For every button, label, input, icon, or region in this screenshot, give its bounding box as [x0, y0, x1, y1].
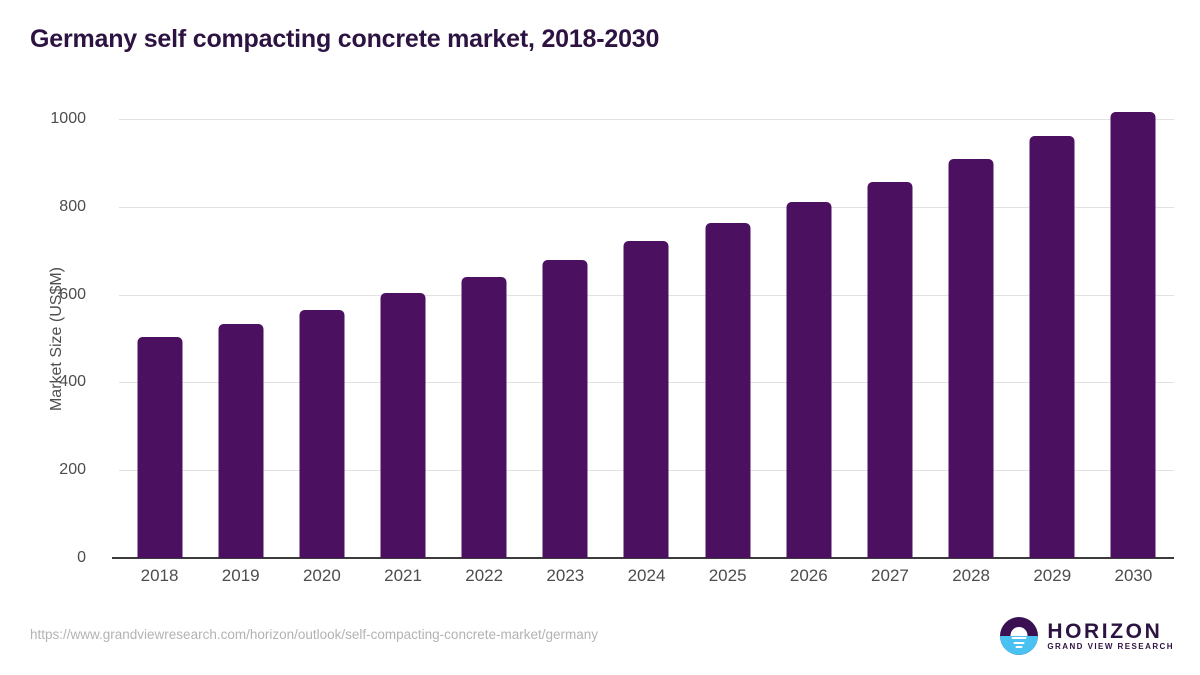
- y-tick-label-200: 200: [0, 461, 86, 479]
- logo-wordmark: HORIZON: [1047, 621, 1174, 643]
- bar-2025[interactable]: [705, 223, 750, 558]
- y-tick-label-400: 400: [0, 373, 86, 391]
- bar-slot: [200, 119, 281, 558]
- x-tick-label-2021: 2021: [384, 566, 422, 586]
- chart-card: Germany self compacting concrete market,…: [0, 0, 1200, 675]
- logo-ray-3: [1016, 646, 1023, 648]
- bar-2019[interactable]: [218, 324, 263, 558]
- bar-slot: [119, 119, 200, 558]
- logo-text: HORIZON GRAND VIEW RESEARCH: [1047, 621, 1174, 652]
- bar-slot: [849, 119, 930, 558]
- bar-2028[interactable]: [949, 159, 994, 558]
- bar-2027[interactable]: [867, 182, 912, 558]
- page-title: Germany self compacting concrete market,…: [30, 25, 659, 54]
- logo-tagline: GRAND VIEW RESEARCH: [1047, 643, 1174, 652]
- x-tick-label-2023: 2023: [546, 566, 584, 586]
- y-tick-label-1000: 1000: [0, 110, 86, 128]
- x-tick-label-2028: 2028: [952, 566, 990, 586]
- bar-2020[interactable]: [299, 310, 344, 558]
- bar-2022[interactable]: [462, 277, 507, 558]
- logo-ray-1: [1012, 637, 1027, 639]
- horizon-logo[interactable]: HORIZON GRAND VIEW RESEARCH: [1000, 616, 1174, 656]
- logo-sun-shape: [1011, 627, 1028, 636]
- x-tick-label-2020: 2020: [303, 566, 341, 586]
- bar-slot: [687, 119, 768, 558]
- x-tick-label-2026: 2026: [790, 566, 828, 586]
- bar-2018[interactable]: [137, 337, 182, 558]
- x-axis-ticks: 2018201920202021202220232024202520262027…: [119, 566, 1174, 596]
- bar-slot: [606, 119, 687, 558]
- horizon-logo-icon: [1000, 617, 1038, 655]
- x-tick-label-2027: 2027: [871, 566, 909, 586]
- bar-slot: [525, 119, 606, 558]
- bar-slot: [1012, 119, 1093, 558]
- x-tick-label-2024: 2024: [628, 566, 666, 586]
- bar-2024[interactable]: [624, 241, 669, 558]
- x-tick-label-2029: 2029: [1033, 566, 1071, 586]
- x-tick-label-2019: 2019: [222, 566, 260, 586]
- bar-2026[interactable]: [786, 202, 831, 558]
- bar-slot: [444, 119, 525, 558]
- bar-slot: [281, 119, 362, 558]
- bar-slot: [362, 119, 443, 558]
- y-tick-label-0: 0: [0, 549, 86, 567]
- bar-slot: [1093, 119, 1174, 558]
- x-tick-label-2025: 2025: [709, 566, 747, 586]
- source-url[interactable]: https://www.grandviewresearch.com/horizo…: [30, 627, 598, 642]
- y-tick-label-800: 800: [0, 198, 86, 216]
- x-tick-label-2022: 2022: [465, 566, 503, 586]
- x-tick-label-2030: 2030: [1115, 566, 1153, 586]
- bar-2030[interactable]: [1111, 112, 1156, 558]
- bar-slot: [931, 119, 1012, 558]
- bar-series: [119, 119, 1174, 558]
- bar-2021[interactable]: [381, 293, 426, 558]
- logo-ray-2: [1014, 642, 1025, 644]
- x-tick-label-2018: 2018: [141, 566, 179, 586]
- bar-2023[interactable]: [543, 260, 588, 558]
- y-tick-label-600: 600: [0, 286, 86, 304]
- bar-2029[interactable]: [1030, 136, 1075, 558]
- bar-slot: [768, 119, 849, 558]
